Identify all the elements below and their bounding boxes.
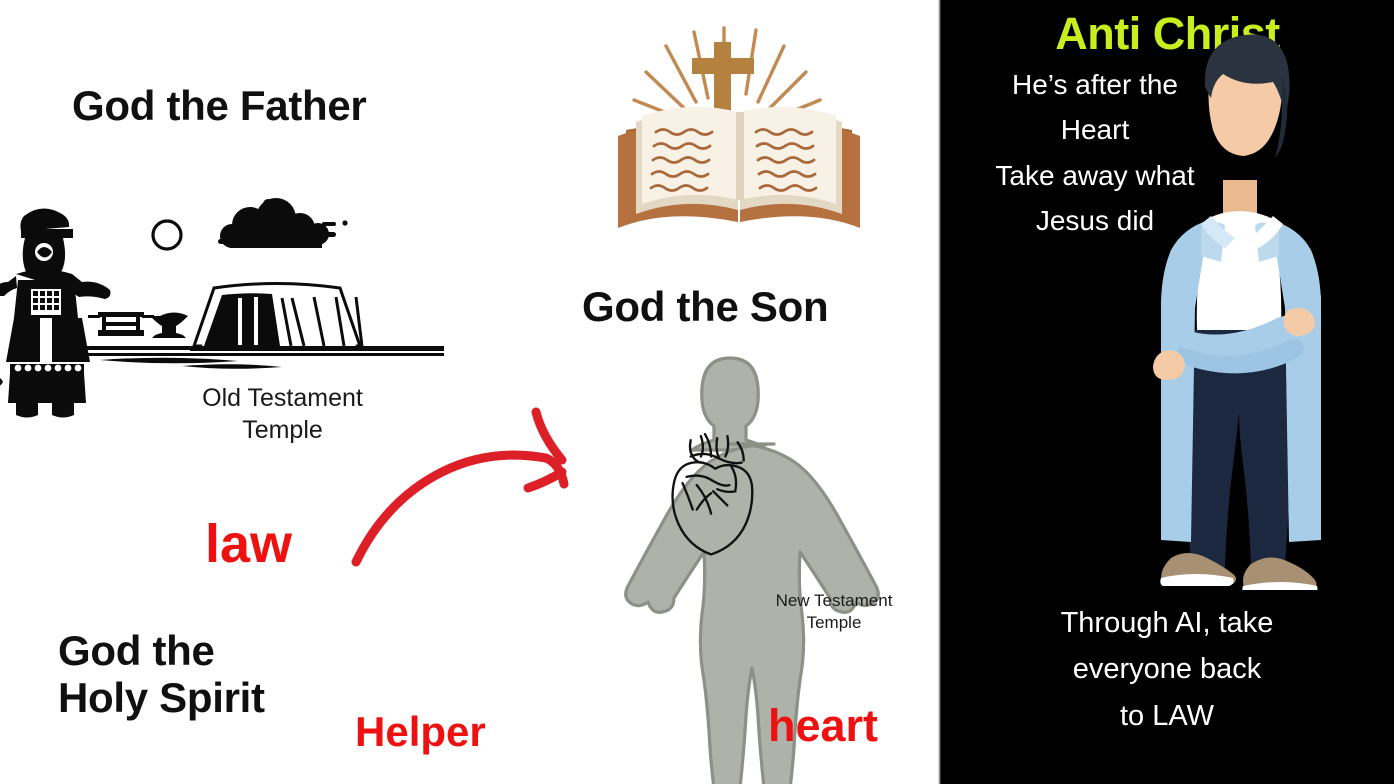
anti-body-line-3: Take away what — [945, 153, 1245, 198]
anti-christ-panel: Anti Christ He’s after the Heart Take aw… — [941, 0, 1394, 784]
heading-god-the-son: God the Son — [582, 283, 828, 331]
heading-god-the-holy-spirit: God theHoly Spirit — [58, 627, 388, 721]
heading-god-the-father: God the Father — [72, 82, 366, 130]
cloud-icon — [214, 192, 364, 252]
open-bible-with-cross-icon — [608, 18, 870, 248]
anti-bottom-line-3: to LAW — [957, 693, 1377, 739]
anti-christ-body-text: He’s after the Heart Take away what Jesu… — [945, 62, 1245, 243]
anti-bottom-line-1: Through AI, take — [957, 600, 1377, 646]
red-curved-arrow-icon — [340, 398, 640, 578]
annotation-helper: Helper — [355, 708, 486, 756]
anti-body-line-2: Heart — [945, 107, 1245, 152]
annotation-law: law — [205, 513, 292, 575]
anti-body-line-1: He’s after the — [945, 62, 1245, 107]
tabernacle-temple-icon — [86, 272, 446, 372]
caption-ot-line1: Old TestamentTemple — [202, 384, 363, 444]
infographic-canvas: God the Father — [0, 0, 1394, 784]
anti-body-line-4: Jesus did — [945, 198, 1245, 243]
anti-christ-bottom-text: Through AI, take everyone back to LAW — [957, 600, 1377, 739]
caption-nt-line1: New TestamentTemple — [776, 591, 893, 632]
annotation-heart: heart — [768, 700, 878, 752]
caption-new-testament-temple: New TestamentTemple — [748, 590, 920, 634]
anti-bottom-line-2: everyone back — [957, 646, 1377, 692]
holy-spirit-text: God theHoly Spirit — [58, 627, 265, 721]
sun-circle-icon — [150, 218, 184, 252]
